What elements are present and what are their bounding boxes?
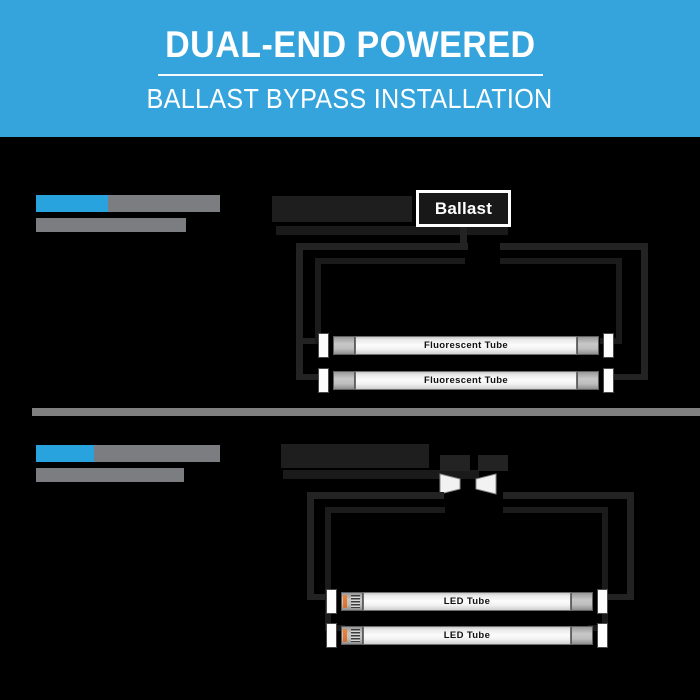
header-banner: DUAL-END POWERED BALLAST BYPASS INSTALLA… [0,0,700,137]
wire-right-vertical-outer [641,243,648,380]
after-label-text-block [94,445,220,462]
wire-left-vertical-inner [315,258,321,344]
led-driver-contacts [351,629,360,642]
endcap-pins [603,368,614,393]
endcap-pins [326,589,337,614]
endcap-pins [597,623,608,648]
led-driver-indicator [343,595,347,608]
wire-after-top-left-horizontal [307,492,444,499]
before-label-text-block [108,195,220,212]
endcap-pins [318,333,329,358]
endcap-body [571,626,593,645]
ballast-box: Ballast [416,190,511,227]
led-endcap-left [320,623,363,648]
tube-endcap-right [577,333,620,358]
endcap-pins [603,333,614,358]
wire-cut-stub-right [478,455,508,471]
endcap-pins [326,623,337,648]
led-driver-indicator [343,629,347,642]
endcap-body [333,336,355,355]
after-label-keyword-block [36,445,94,462]
wire-top-left-inner [315,258,465,264]
fluorescent-tube-2: Fluorescent Tube [312,368,620,393]
tube-body: Fluorescent Tube [355,371,577,390]
before-label-keyword-block [36,195,108,212]
before-label-row-2 [36,218,220,232]
wire-right-vertical-inner [616,258,622,344]
tube-label: LED Tube [444,630,490,641]
before-sublabel-block [36,218,186,232]
wire-top-left-horizontal [296,243,468,250]
fluorescent-tube-1: Fluorescent Tube [312,333,620,358]
wire-cut-stub-left [440,455,470,471]
tube-body: LED Tube [363,626,571,645]
after-label-group [36,445,220,482]
led-endcap-right [571,623,614,648]
wire-top-right-horizontal [500,243,648,250]
tube-label: LED Tube [444,596,490,607]
ballast-label: Ballast [435,199,492,219]
after-sublabel-block [36,468,184,482]
wire-after-top-right-horizontal [503,492,634,499]
endcap-body [333,371,355,390]
led-endcap-left [320,589,363,614]
page-title: DUAL-END POWERED [165,26,535,63]
tube-endcap-right [577,368,620,393]
before-label-row-1 [36,195,220,212]
wire-after-left-inner-horizontal [325,507,445,513]
led-tube-2: LED Tube [320,623,614,648]
wire-after-right-inner-horizontal [503,507,608,513]
before-label-group [36,195,220,232]
led-endcap-right [571,589,614,614]
after-label-row-1 [36,445,220,462]
tube-label: Fluorescent Tube [424,340,508,351]
before-diagram-caption [272,196,412,222]
led-tube-1: LED Tube [320,589,614,614]
endcap-pins [597,589,608,614]
page-subtitle: BALLAST BYPASS INSTALLATION [147,85,553,113]
endcap-body [577,336,599,355]
before-diagram-caption-2 [276,226,508,235]
wire-top-right-inner [500,258,622,264]
tube-endcap-left [312,333,355,358]
header-divider-rule [158,74,543,76]
led-driver-contacts [351,595,360,608]
tube-label: Fluorescent Tube [424,375,508,386]
endcap-body [577,371,599,390]
tube-body: LED Tube [363,592,571,611]
tube-endcap-left [312,368,355,393]
wire-left-vertical-outer [296,243,303,375]
cut-wire-right-icon [473,470,499,496]
wire-after-left-vertical [307,492,314,600]
tube-body: Fluorescent Tube [355,336,577,355]
section-divider [32,408,700,416]
endcap-pins [318,368,329,393]
endcap-body [571,592,593,611]
after-diagram-caption [281,444,429,468]
after-label-row-2 [36,468,220,482]
wire-after-right-vertical [627,492,634,600]
